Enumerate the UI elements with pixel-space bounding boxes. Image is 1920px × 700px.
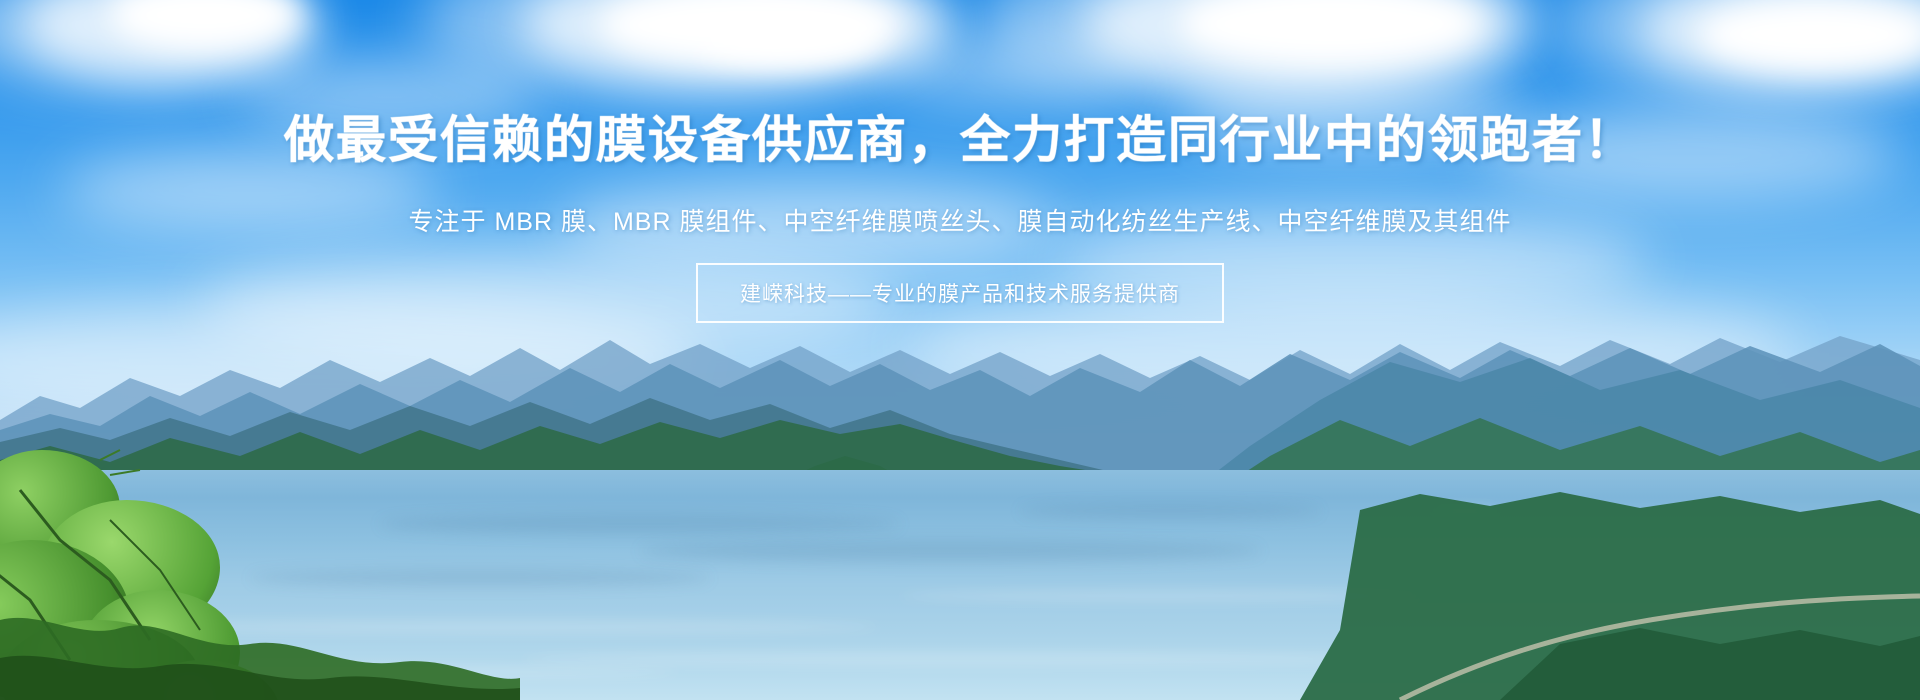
foliage-bottom-left bbox=[0, 600, 520, 700]
cloud-wisp bbox=[240, 60, 540, 130]
cloud bbox=[700, 10, 880, 62]
banner-tagline-box[interactable]: 建嵘科技——专业的膜产品和技术服务提供商 bbox=[696, 263, 1224, 323]
cloud bbox=[1700, 0, 1920, 70]
cloud-wisp bbox=[1480, 110, 1900, 200]
cloud-wisp bbox=[60, 150, 440, 230]
hero-banner: 做最受信赖的膜设备供应商，全力打造同行业中的领跑者！ 专注于 MBR 膜、MBR… bbox=[0, 0, 1920, 700]
cloud-wisp bbox=[1180, 70, 1520, 150]
cloud-wisp bbox=[880, 40, 1140, 100]
